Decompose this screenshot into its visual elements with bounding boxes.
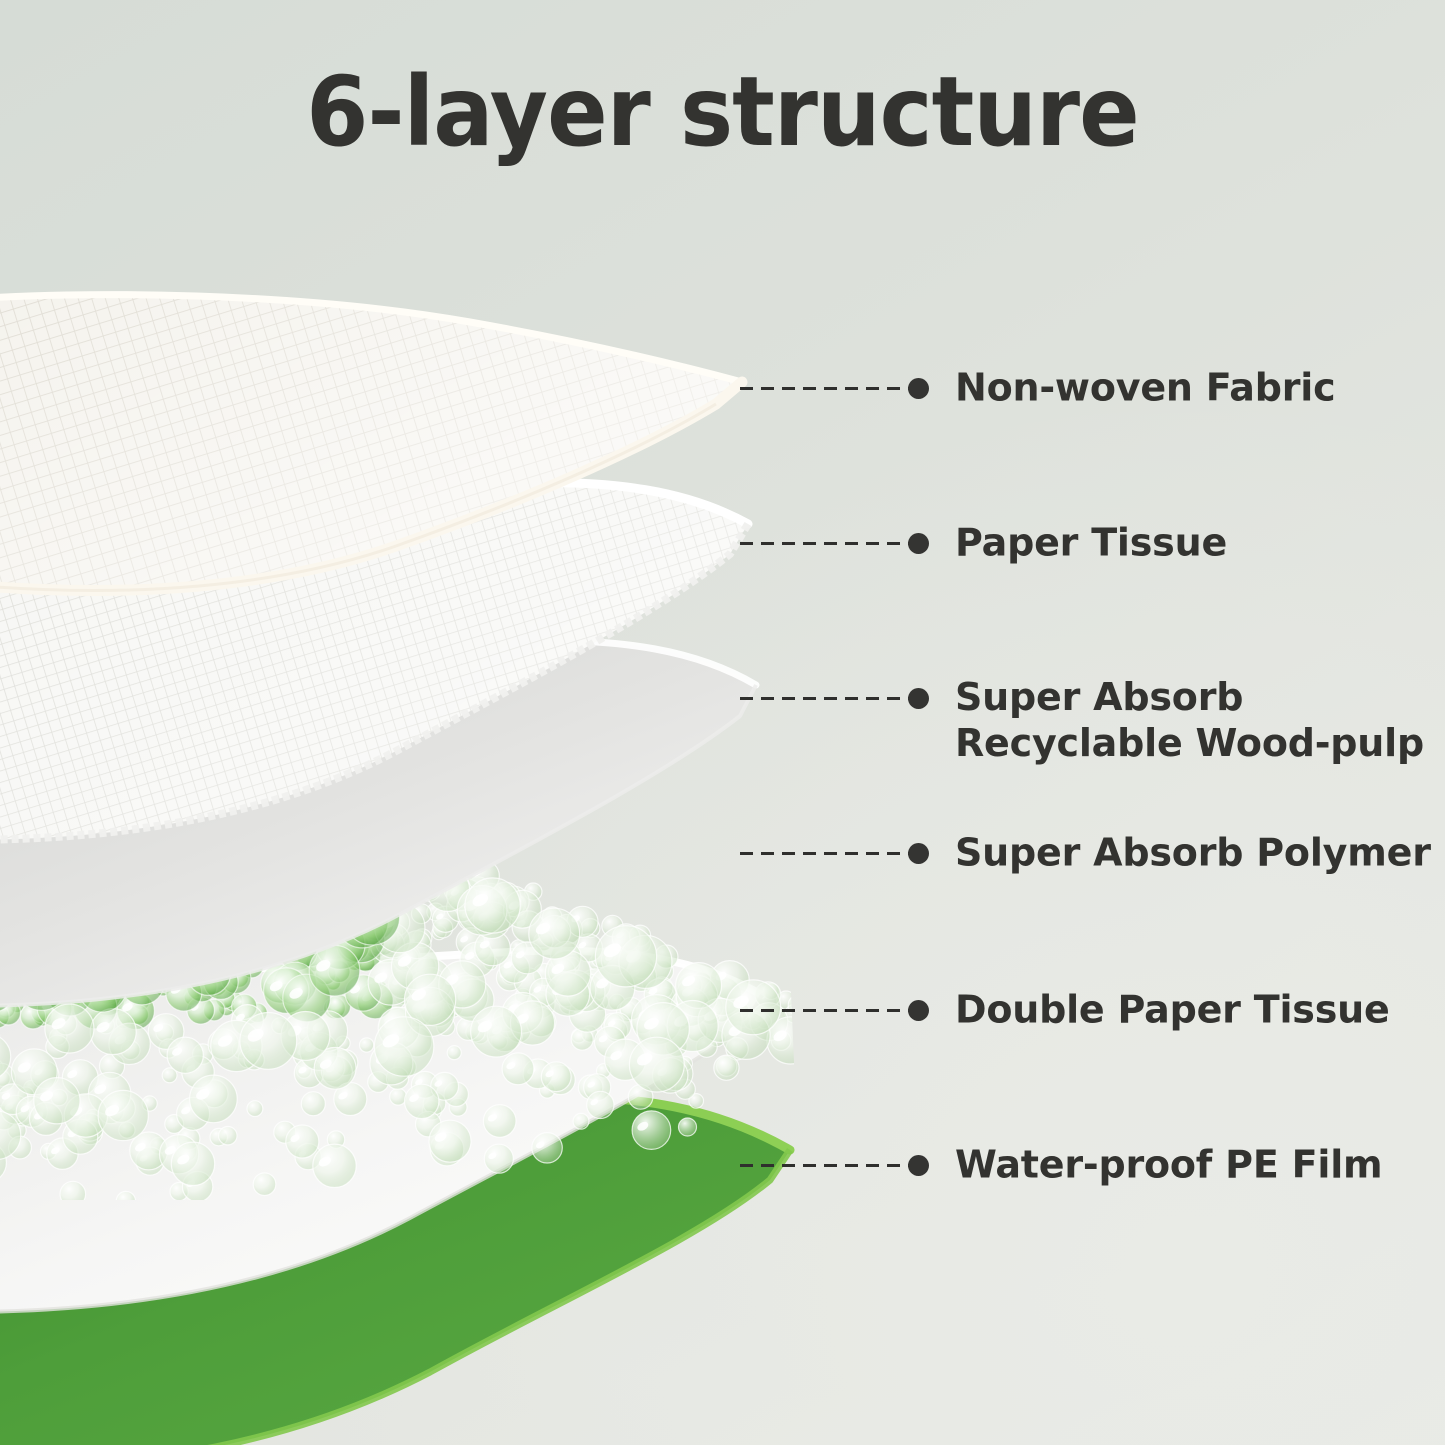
callout-label-line: Paper Tissue	[955, 521, 1227, 565]
callout-dot	[908, 1000, 929, 1021]
callout-label-line: Water-proof PE Film	[955, 1143, 1382, 1187]
callout-label-line: Non-woven Fabric	[955, 366, 1335, 410]
callout-label: Non-woven Fabric	[955, 366, 1335, 411]
callout-label: Super Absorb Polymer	[955, 831, 1431, 876]
callout-label-line: Double Paper Tissue	[955, 988, 1390, 1032]
callout-dot	[908, 533, 929, 554]
leader-line	[740, 387, 918, 390]
layer-stack-illustration	[0, 0, 880, 1445]
leader-line	[740, 697, 918, 700]
leader-line	[740, 542, 918, 545]
callout-label-line: Recyclable Wood-pulp	[955, 720, 1424, 766]
callout-dot	[908, 1155, 929, 1176]
callout-label: Paper Tissue	[955, 521, 1227, 566]
callout-label-line: Super Absorb Polymer	[955, 831, 1431, 875]
leader-line	[740, 1164, 918, 1167]
callout-dot	[908, 378, 929, 399]
leader-line	[740, 852, 918, 855]
callout-label-line: Super Absorb	[955, 675, 1243, 719]
callout-label: Super Absorb Recyclable Wood-pulp	[955, 674, 1424, 766]
callout-dot	[908, 688, 929, 709]
leader-line	[740, 1009, 918, 1012]
callout-label: Double Paper Tissue	[955, 988, 1390, 1033]
infographic-canvas: 6-layer structure	[0, 0, 1445, 1445]
callout-dot	[908, 843, 929, 864]
callout-label: Water-proof PE Film	[955, 1143, 1382, 1188]
